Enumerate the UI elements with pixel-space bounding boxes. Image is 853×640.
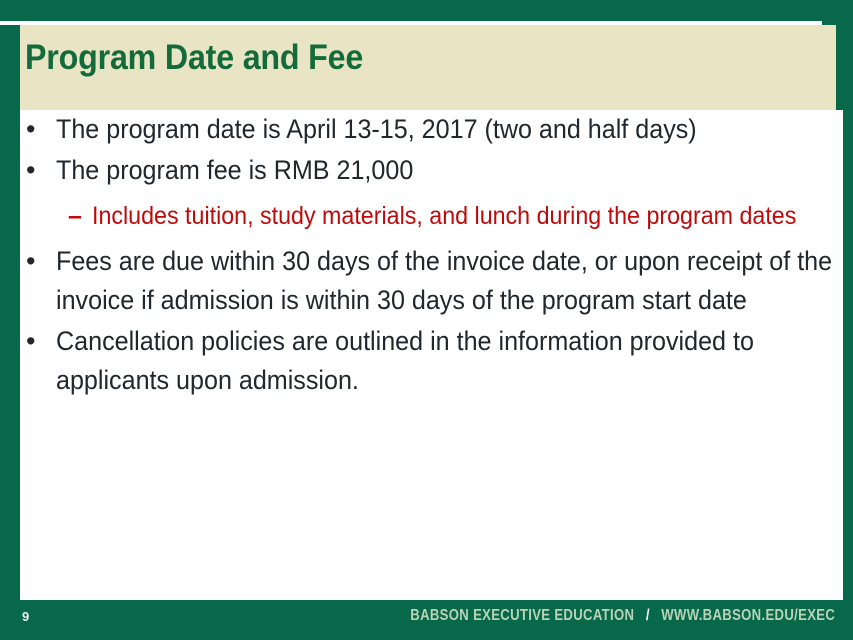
bullet-marker: •	[26, 110, 35, 149]
bullet-marker: •	[26, 322, 35, 361]
slide-content-area: • The program date is April 13-15, 2017 …	[20, 110, 843, 600]
sub-bullet-marker: –	[68, 197, 82, 235]
footer-website: WWW.BABSON.EDU/EXEC	[661, 607, 835, 624]
bullet-text: Cancellation policies are outlined in th…	[56, 322, 833, 400]
slide-title: Program Date and Fee	[25, 38, 363, 78]
sub-bullet-item-fee-includes: – Includes tuition, study materials, and…	[20, 197, 843, 235]
bullet-marker: •	[26, 242, 35, 281]
page-number: 9	[22, 609, 29, 624]
footer-organization: BABSON EXECUTIVE EDUCATION	[410, 607, 634, 624]
footer-separator: /	[646, 607, 650, 624]
slide-canvas: Program Date and Fee • The program date …	[0, 0, 853, 640]
bullet-text: Fees are due within 30 days of the invoi…	[56, 242, 833, 320]
bullet-item-cancellation-policy: • Cancellation policies are outlined in …	[20, 322, 843, 400]
bullet-list: • The program date is April 13-15, 2017 …	[20, 110, 843, 402]
bullet-item-program-date: • The program date is April 13-15, 2017 …	[20, 110, 843, 149]
footer-branding: BABSON EXECUTIVE EDUCATION/WWW.BABSON.ED…	[410, 607, 835, 625]
bullet-text: The program date is April 13-15, 2017 (t…	[56, 110, 833, 149]
bullet-item-program-fee: • The program fee is RMB 21,000	[20, 151, 843, 190]
bullet-text: The program fee is RMB 21,000	[56, 151, 833, 190]
sub-bullet-text: Includes tuition, study materials, and l…	[92, 197, 833, 235]
bullet-item-payment-terms: • Fees are due within 30 days of the inv…	[20, 242, 843, 320]
bullet-marker: •	[26, 151, 35, 190]
